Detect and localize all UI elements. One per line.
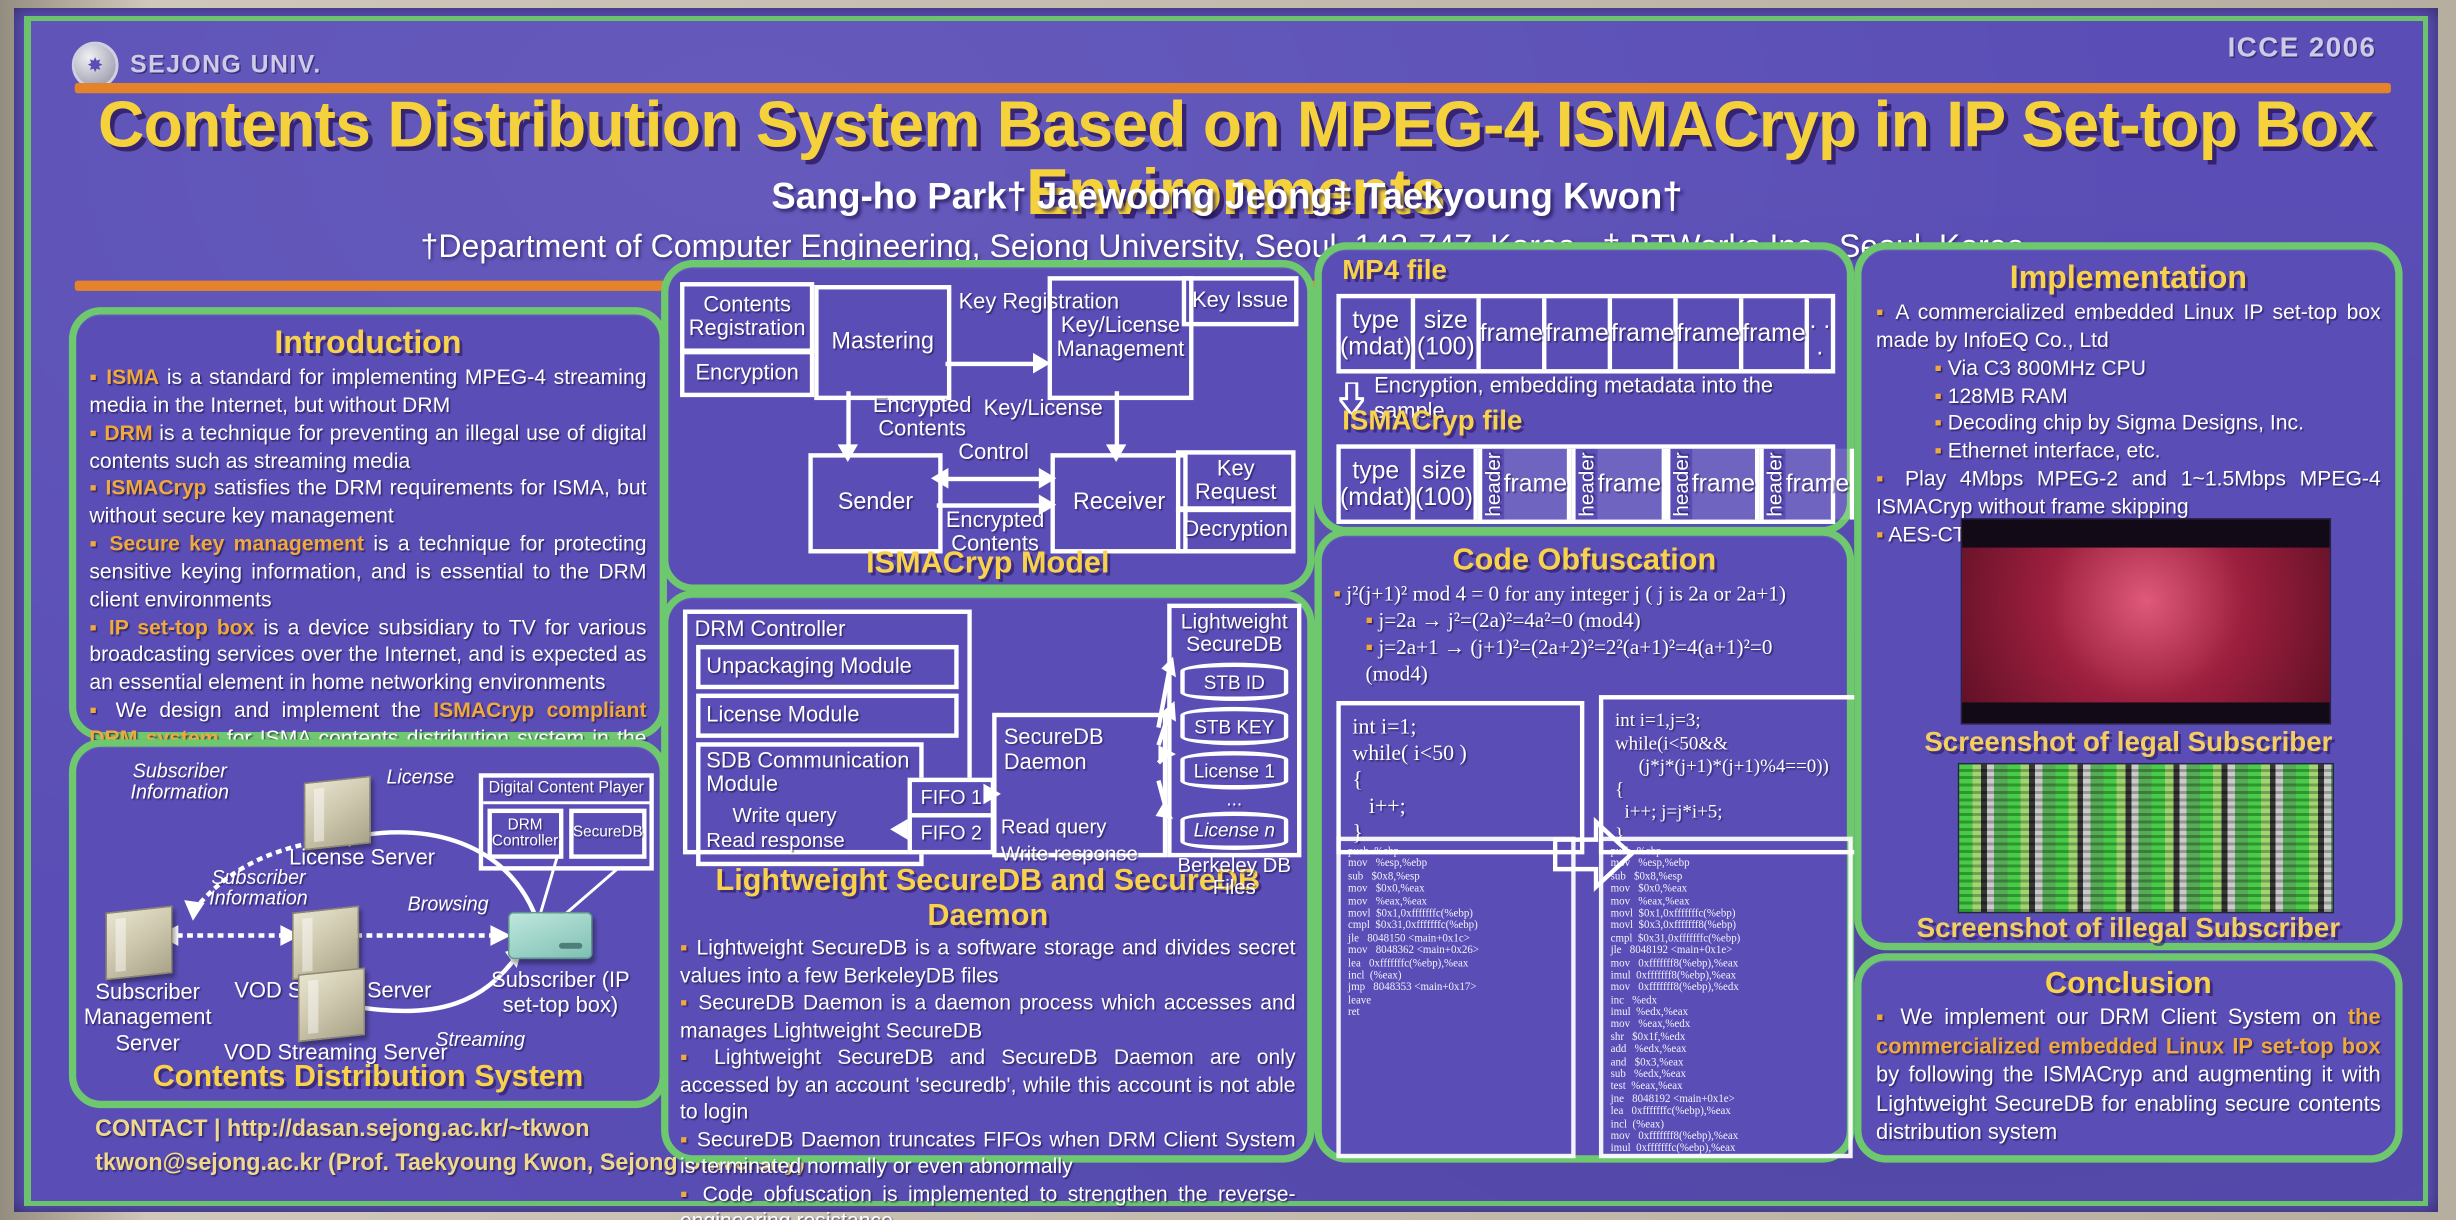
subscriber-management-server-icon	[105, 905, 172, 980]
panel-ismacryp-model: Contents Registration Encryption Masteri…	[661, 260, 1314, 592]
introduction-body: ISMA is a standard for implementing MPEG…	[76, 362, 659, 782]
conclusion-body: We implement our DRM Client System on th…	[1861, 1002, 2395, 1147]
ismacryp-header-cell-4: header	[1759, 449, 1785, 520]
asm-after-box: push %ebp mov %esp,%ebp sub $0x8,%esp mo…	[1599, 837, 1853, 1159]
mastering-box: Mastering	[814, 285, 951, 400]
contents-registration-box: Contents Registration	[680, 282, 814, 353]
sejong-seal-icon: ✸	[72, 42, 119, 89]
university-name: SEJONG UNIV.	[130, 51, 322, 81]
ismacryp-file-strip: type (mdat) size (100) header frame head…	[1336, 444, 1835, 524]
key-license-down-line	[1115, 391, 1119, 450]
obfuscation-line-2: j=2a → j²=(2a)²=4a²=0 (mod4)	[1333, 608, 1835, 635]
poster-green-frame: ✸ SEJONG UNIV. ICCE 2006 Contents Distri…	[24, 16, 2428, 1206]
sender-box: Sender	[808, 453, 942, 553]
implementation-title: Implementation	[1861, 250, 2395, 297]
intro-bullet-1: ISMA is a standard for implementing MPEG…	[89, 365, 646, 421]
securedb-bullet-5: Code obfuscation is implemented to stren…	[680, 1182, 1296, 1220]
securedb-daemon-connectors	[668, 598, 1307, 861]
ismacryp-header-cell-2: header	[1571, 449, 1597, 520]
key-registration-arrow-line	[946, 362, 1036, 366]
obfuscation-line-1: j²(j+1)² mod 4 = 0 for any integer j ( j…	[1333, 582, 1835, 609]
panel-implementation: Implementation A commercialized embedded…	[1854, 242, 2402, 950]
securedb-bullet-2: SecureDB Daemon is a daemon process whic…	[680, 990, 1296, 1045]
vod-streaming-server-icon	[298, 967, 365, 1042]
poster-board: ✸ SEJONG UNIV. ICCE 2006 Contents Distri…	[14, 8, 2438, 1212]
screenshot-legal-subscriber	[1961, 518, 2331, 725]
license-server-icon	[304, 776, 371, 851]
caption-legal-subscriber: Screenshot of legal Subscriber	[1861, 728, 2395, 760]
ismacryp-file-title: ISMACryp file	[1322, 406, 1523, 438]
key-request-box: Key Request	[1176, 450, 1296, 512]
encrypted-contents-down-label: Encrypted Contents	[858, 394, 986, 440]
securedb-diagram: DRM Controller Unpackaging Module Licens…	[668, 598, 1307, 861]
securedb-bullet-1: Lightweight SecureDB is a software stora…	[680, 936, 1296, 991]
implementation-sub-bullet-1: Via C3 800MHz CPU	[1876, 355, 2381, 383]
encrypted-contents-down-line	[846, 391, 850, 450]
control-arrowhead-right	[1039, 468, 1057, 489]
control-arrowhead-left	[931, 468, 949, 489]
obfuscation-title: Code Obfuscation	[1322, 536, 1847, 579]
panel-conclusion: Conclusion We implement our DRM Client S…	[1854, 953, 2402, 1162]
securedb-bullet-3: Lightweight SecureDB and SecureDB Daemon…	[680, 1045, 1296, 1127]
ismacryp-header-cell-3: header	[1665, 449, 1691, 520]
implementation-bullet-1: A commercialized embedded Linux IP set-t…	[1876, 300, 2381, 356]
mp4-file-title: MP4 file	[1322, 250, 1847, 288]
mp4-ellipsis-cell: . . .	[1809, 298, 1831, 369]
ismacryp-model-title: ISMACryp Model	[668, 546, 1307, 581]
digital-content-player-box: Digital Content Player DRM Controller Se…	[479, 773, 654, 870]
mp4-frame-cell-1: frame	[1481, 298, 1547, 369]
obfuscation-formulas: j²(j+1)² mod 4 = 0 for any integer j ( j…	[1322, 579, 1847, 689]
panel-securedb: DRM Controller Unpackaging Module Licens…	[661, 590, 1314, 1162]
caption-illegal-subscriber: Screenshot of illegal Subscriber	[1861, 913, 2395, 945]
ismacryp-size-cell: size (100)	[1415, 449, 1477, 520]
implementation-sub-bullet-4: Ethernet interface, etc.	[1876, 439, 2381, 467]
university-logo: ✸ SEJONG UNIV.	[72, 42, 322, 89]
asm-before-box: push %ebp mov %esp,%ebp sub $0x8,%esp mo…	[1336, 837, 1575, 1159]
ismacryp-header-cell-1: header	[1477, 449, 1503, 520]
intro-bullet-4: Secure key management is a technique for…	[89, 531, 646, 614]
digital-content-player-label: Digital Content Player	[483, 778, 649, 804]
drm-controller-box: DRM Controller	[488, 808, 563, 858]
panel-contents-distribution: Subscriber Information License Subscribe…	[69, 739, 667, 1108]
cds-label-license-server: License Server	[260, 847, 464, 870]
ismacryp-frame-cell-1: frame	[1504, 449, 1572, 520]
mp4-frame-cell-2: frame	[1546, 298, 1612, 369]
implementation-bullet-2: Play 4Mbps MPEG-2 and 1~1.5Mbps MPEG-4 I…	[1876, 467, 2381, 523]
code-after-box: int i=1,j=3; while(i<50&& (j*j*(j+1)*(j+…	[1599, 695, 1862, 854]
panel-file-format: MP4 file type (mdat) size (100) frame fr…	[1315, 242, 1855, 534]
intro-bullet-5: IP set-top box is a device subsidiary to…	[89, 615, 646, 698]
introduction-title: Introduction	[76, 323, 659, 361]
intro-bullet-3: ISMACryp satisfies the DRM requirements …	[89, 476, 646, 532]
securedb-body: Lightweight SecureDB is a software stora…	[668, 934, 1307, 1220]
subscriber-stb-icon	[508, 912, 593, 959]
panel-code-obfuscation: Code Obfuscation j²(j+1)² mod 4 = 0 for …	[1315, 528, 1855, 1162]
mp4-frame-cell-3: frame	[1612, 298, 1678, 369]
encryption-box: Encryption	[680, 350, 814, 397]
screenshot-illegal-subscriber	[1958, 763, 2334, 913]
cds-label-subscriber: Subscriber (IP set-top box)	[473, 968, 648, 1019]
conference-badge: ICCE 2006	[2228, 33, 2377, 65]
cds-label-subscriber-management-server: Subscriber Management Server	[70, 980, 225, 1056]
implementation-sub-bullet-3: Decoding chip by Sigma Designs, Inc.	[1876, 411, 2381, 439]
mp4-file-strip: type (mdat) size (100) frame frame frame…	[1336, 294, 1835, 374]
poster-root: ✸ SEJONG UNIV. ICCE 2006 Contents Distri…	[0, 0, 2456, 1220]
mp4-frame-cell-5: frame	[1743, 298, 1809, 369]
ismacryp-type-cell: type (mdat)	[1341, 449, 1415, 520]
conclusion-post: by following the ISMACryp and augmenting…	[1876, 1062, 2381, 1145]
key-license-down-label: Key/License	[978, 397, 1109, 420]
mp4-frame-cell-4: frame	[1678, 298, 1744, 369]
ismacryp-frame-cell-3: frame	[1692, 449, 1760, 520]
control-line	[946, 477, 1042, 481]
mp4-type-cell: type (mdat)	[1341, 298, 1415, 369]
ismacryp-frame-cell-4: frame	[1786, 449, 1854, 520]
poster-paper: ✸ SEJONG UNIV. ICCE 2006 Contents Distri…	[31, 21, 2423, 1201]
intro-bullet-2: DRM is a technique for preventing an ill…	[89, 420, 646, 476]
obfuscation-line-3: j=2a+1 → (j+1)²=(2a+2)²=2²(a+1)²=4(a+1)²…	[1333, 635, 1835, 688]
key-license-management-box: Key/License Management	[1048, 276, 1194, 400]
cds-title: Contents Distribution System	[76, 1059, 659, 1094]
ismacryp-frame-cell-2: frame	[1598, 449, 1666, 520]
conclusion-title: Conclusion	[1861, 961, 2395, 1002]
code-before-box: int i=1; while( i<50 ) { i++; }	[1336, 701, 1584, 854]
implementation-sub-bullet-2: 128MB RAM	[1876, 383, 2381, 411]
panel-introduction: Introduction ISMA is a standard for impl…	[69, 307, 667, 739]
mp4-size-cell: size (100)	[1415, 298, 1481, 369]
receiver-box: Receiver	[1051, 453, 1188, 553]
key-issue-box: Key Issue	[1182, 276, 1299, 326]
implementation-body: A commercialized embedded Linux IP set-t…	[1861, 297, 2395, 550]
securedb-box: SecureDB	[568, 808, 647, 858]
conclusion-pre: We implement our DRM Client System on	[1900, 1005, 2347, 1030]
securedb-bullet-4: SecureDB Daemon truncates FIFOs when DRM…	[680, 1127, 1296, 1182]
author-list: Sang-ho Park† Jaewoong Jeong‡ Taekyoung …	[31, 176, 2423, 219]
control-label: Control	[940, 441, 1048, 464]
